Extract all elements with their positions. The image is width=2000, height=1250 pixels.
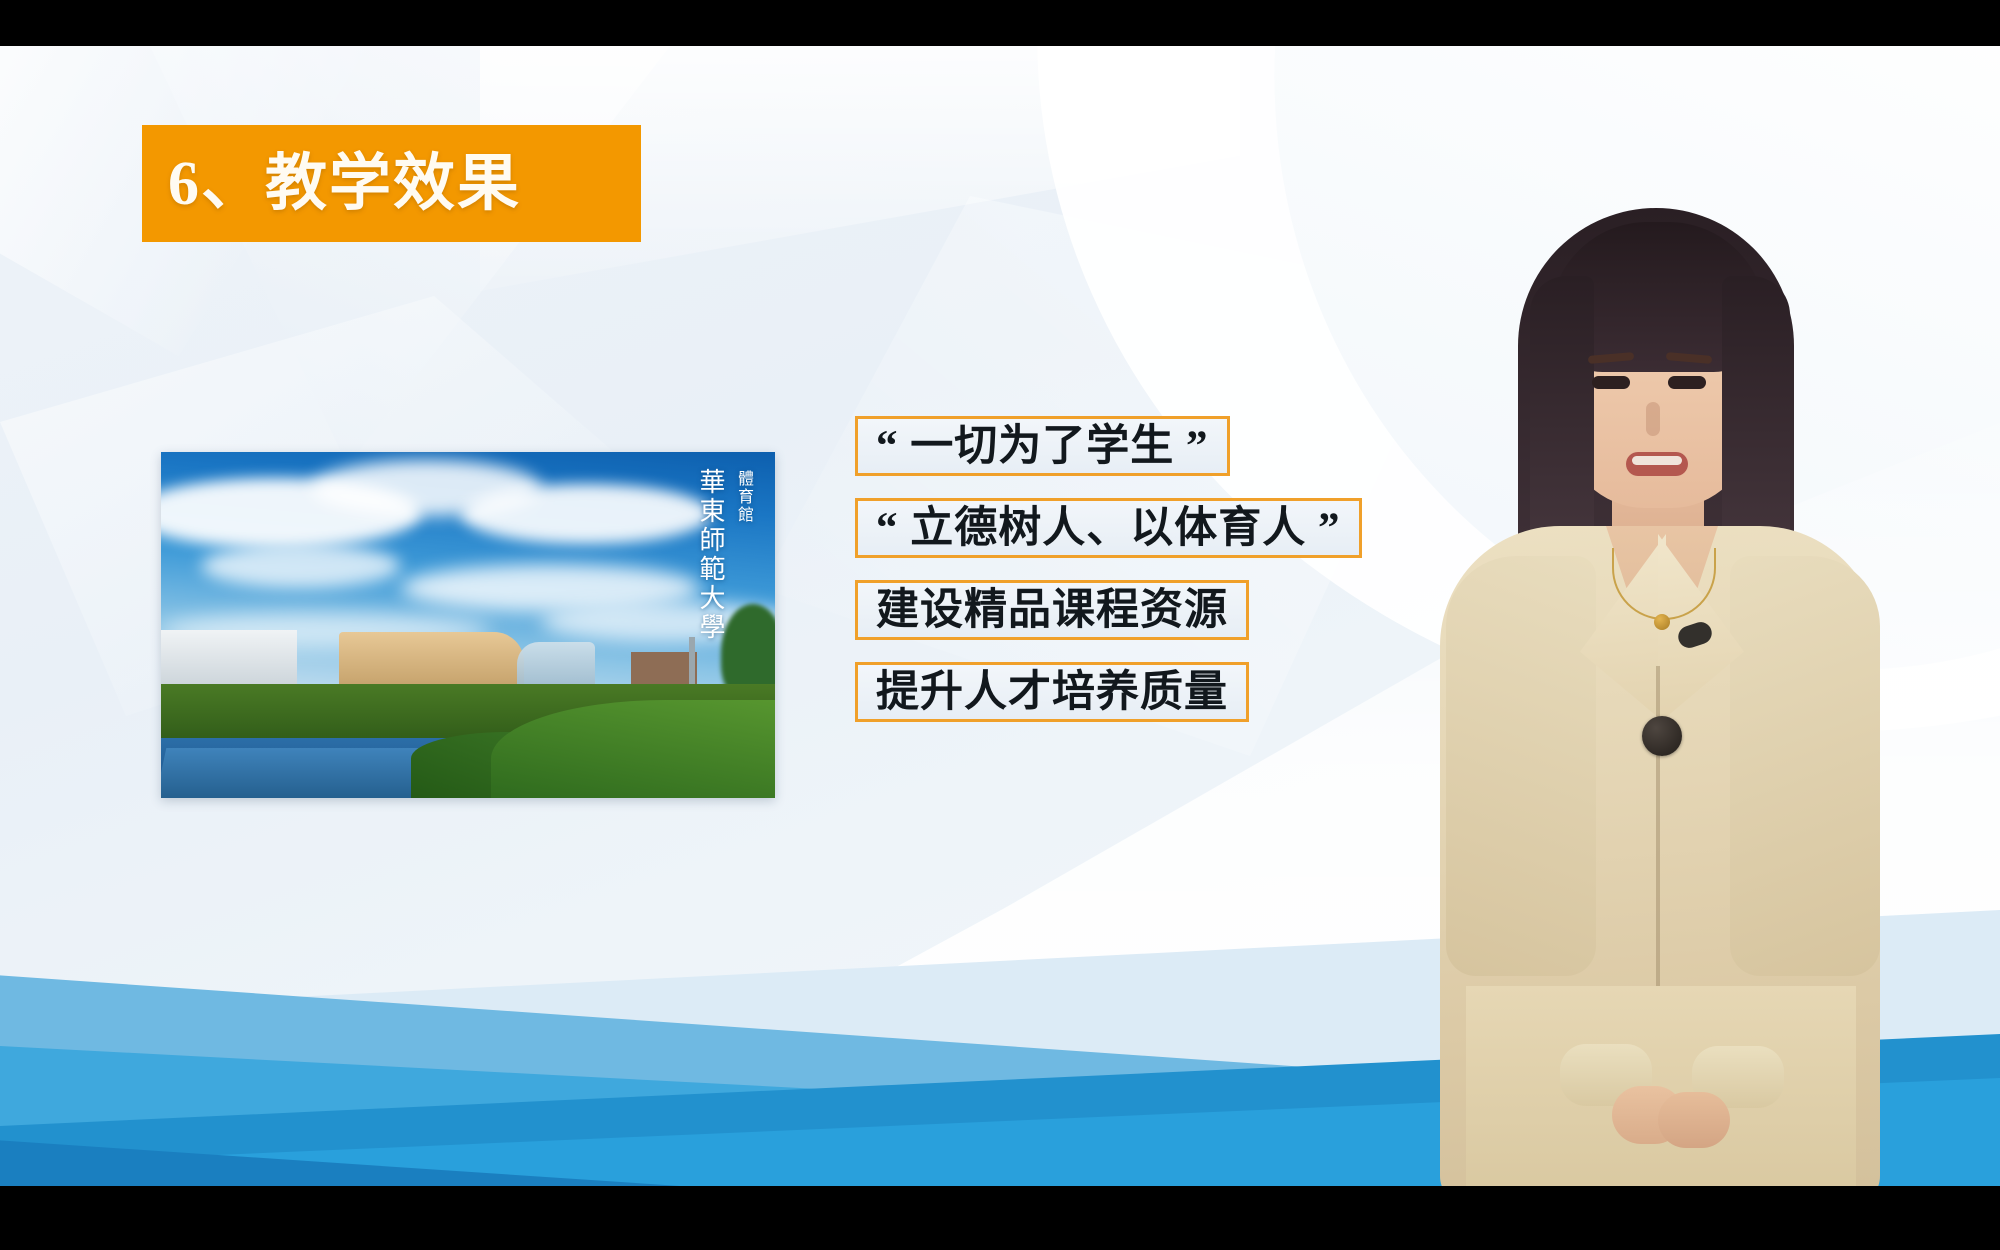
presenter-eye-right [1668,376,1706,389]
photo-cloud [201,544,401,588]
statement-text-4: 提升人才培养质量 [876,671,1228,714]
statement-text-3: 建设精品课程资源 [876,589,1228,632]
photo-caption: 華東師範大學 體育館 [692,468,755,642]
letterbox-top [0,0,2000,46]
statement-box-4: 提升人才培养质量 [855,662,1249,722]
slide-title-banner: 6、教学效果 [142,125,641,242]
background-facet-b [150,46,670,466]
statement-text-1: “ 一切为了学生 ” [876,425,1209,468]
presenter-video [1430,196,1890,1186]
video-slide-frame: 6、教学效果 華東師範大學 體育館 [0,0,2000,1250]
presenter-sleeve-right [1730,556,1880,976]
photo-gymnasium-building [339,632,524,692]
statement-box-2: “ 立德树人、以体育人 ” [855,498,1362,558]
statement-box-1: “ 一切为了学生 ” [855,416,1230,476]
statement-box-3: 建设精品课程资源 [855,580,1249,640]
photo-tower [689,637,695,689]
photo-cloud [461,484,711,544]
presenter-button [1642,716,1682,756]
photo-caption-venue: 體育館 [731,470,755,524]
slide-canvas: 6、教学效果 華東師範大學 體育館 [0,46,2000,1186]
campus-photo: 華東師範大學 體育館 [161,452,775,798]
statement-list: “ 一切为了学生 ” “ 立德树人、以体育人 ” 建设精品课程资源 提升人才培养… [855,416,1362,722]
presenter-eye-left [1592,376,1630,389]
presenter-teeth [1632,456,1682,465]
photo-building-left [161,630,297,692]
presenter-pendant [1654,614,1670,630]
photo-caption-university: 華東師範大學 [692,468,729,642]
presenter-nose [1646,402,1660,436]
page-title: 6、教学效果 [142,153,521,215]
presenter-sleeve-left [1446,556,1596,976]
statement-text-2: “ 立德树人、以体育人 ” [876,507,1341,550]
letterbox-bottom [0,1186,2000,1250]
presenter-hand-right [1658,1092,1730,1148]
